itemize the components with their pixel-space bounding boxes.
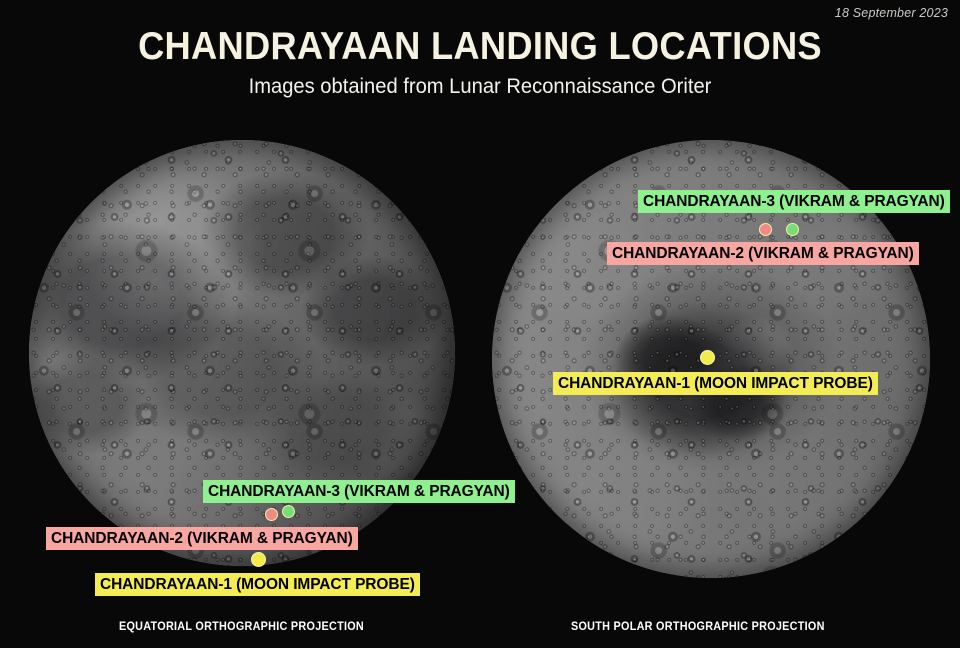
page-title: CHANDRAYAAN LANDING LOCATIONS [34,25,927,69]
marker-chandrayaan-3-equatorial[interactable] [282,505,295,518]
chandrayaan-landing-locations-figure: 18 September 2023 CHANDRAYAAN LANDING LO… [0,0,960,648]
label-chandrayaan-1-equatorial: CHANDRAYAAN-1 (MOON IMPACT PROBE) [95,573,420,596]
label-chandrayaan-2-equatorial: CHANDRAYAAN-2 (VIKRAM & PRAGYAN) [46,527,358,550]
label-chandrayaan-3-southpolar: CHANDRAYAAN-3 (VIKRAM & PRAGYAN) [638,190,950,213]
marker-chandrayaan-2-southpolar[interactable] [759,223,772,236]
marker-chandrayaan-3-southpolar[interactable] [786,223,799,236]
label-chandrayaan-1-southpolar: CHANDRAYAAN-1 (MOON IMPACT PROBE) [553,372,878,395]
page-subtitle: Images obtained from Lunar Reconnaissanc… [19,74,941,100]
label-chandrayaan-3-equatorial: CHANDRAYAAN-3 (VIKRAM & PRAGYAN) [203,480,515,503]
marker-chandrayaan-1-equatorial[interactable] [251,552,266,567]
marker-chandrayaan-1-southpolar[interactable] [700,350,715,365]
marker-chandrayaan-2-equatorial[interactable] [265,508,278,521]
date-stamp: 18 September 2023 [835,6,948,20]
label-chandrayaan-2-southpolar: CHANDRAYAAN-2 (VIKRAM & PRAGYAN) [607,242,919,265]
caption-equatorial-projection: EQUATORIAL ORTHOGRAPHIC PROJECTION [119,621,364,633]
caption-southpolar-projection: SOUTH POLAR ORTHOGRAPHIC PROJECTION [571,621,825,633]
